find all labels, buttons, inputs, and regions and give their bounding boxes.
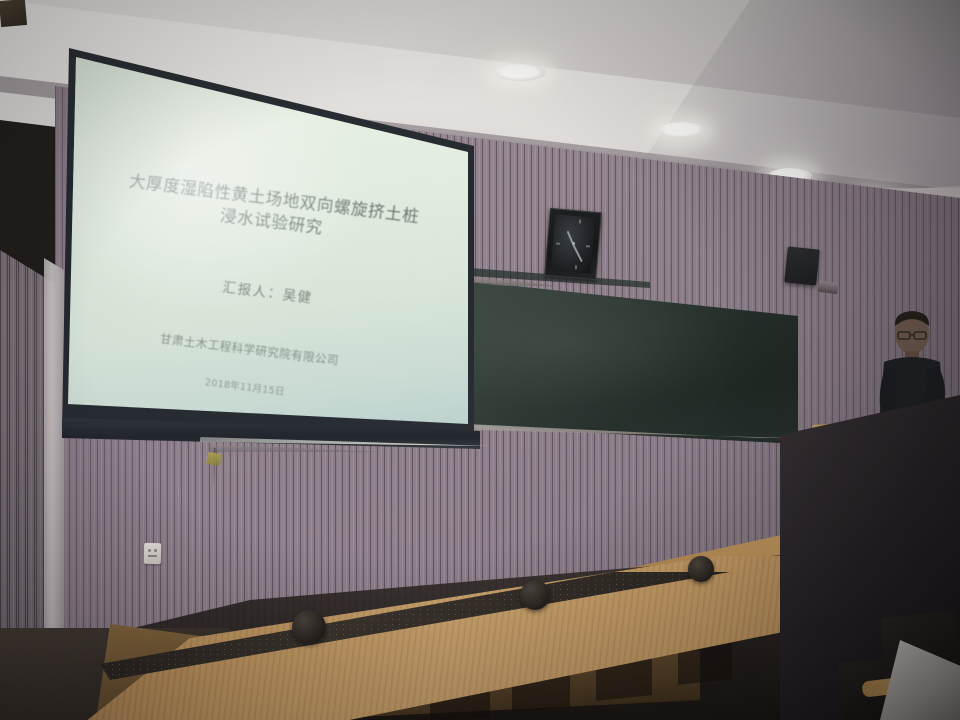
- outlet-slot: [148, 555, 157, 557]
- desk-edge-knob: [520, 580, 550, 610]
- clock-tick: [575, 265, 577, 269]
- ceiling-light-icon: [658, 122, 706, 138]
- wall-speaker: [784, 246, 820, 285]
- wall-clock: [544, 208, 602, 280]
- ceiling-light-icon: [494, 64, 546, 81]
- clock-face: [551, 214, 596, 273]
- clock-tick: [579, 219, 581, 223]
- desk-edge-knob: [688, 556, 714, 582]
- desk-edge-knob: [292, 610, 326, 644]
- chair-backrest: [0, 0, 27, 27]
- power-outlet: [144, 543, 161, 564]
- lecture-hall-photo: 大厚度湿陷性黄土场地双向螺旋挤土桩浸水试验研究 汇报人：吴健 甘肃土木工程科学研…: [0, 0, 960, 720]
- cable-clip-icon: [206, 452, 222, 466]
- clock-tick: [556, 243, 560, 245]
- clock-tick: [586, 245, 590, 247]
- clock-minute-hand: [572, 244, 582, 263]
